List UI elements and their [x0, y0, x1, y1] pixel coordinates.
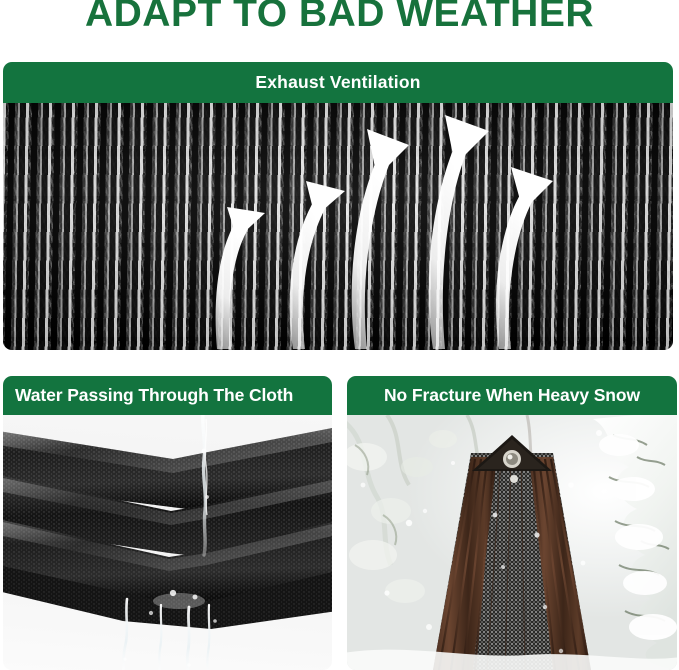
panel-header-water-passing: Water Passing Through The Cloth — [3, 376, 332, 415]
snow-scene-graphics — [347, 415, 677, 670]
panel-water-passing: Water Passing Through The Cloth — [3, 376, 332, 670]
panel-header-label: Exhaust Ventilation — [255, 72, 420, 93]
snow-cover-image — [347, 415, 677, 670]
snow-covered-evergreen — [593, 415, 677, 670]
airflow-arrow-icon — [290, 181, 345, 349]
airflow-arrow-icon — [352, 129, 409, 349]
water-scene-graphics — [3, 415, 332, 670]
panel-exhaust-ventilation: Exhaust Ventilation — [3, 62, 673, 350]
airflow-arrow-icon — [216, 207, 265, 349]
airflow-arrows-group — [3, 103, 673, 350]
panel-header-label: No Fracture When Heavy Snow — [384, 385, 640, 406]
airflow-arrow-icon — [429, 115, 489, 349]
page-title: ADAPT TO BAD WEATHER — [0, 0, 679, 37]
airflow-arrow-icon — [496, 167, 553, 349]
product-feature-infographic: ADAPT TO BAD WEATHER Exhaust Ventilation — [0, 0, 679, 670]
panel-header-label: Water Passing Through The Cloth — [15, 385, 293, 406]
panel-header-exhaust-ventilation: Exhaust Ventilation — [3, 62, 673, 103]
water-through-cloth-image — [3, 415, 332, 670]
panel-header-heavy-snow: No Fracture When Heavy Snow — [347, 376, 677, 415]
shade-cloth-mesh-image — [3, 103, 673, 350]
conical-plant-cover — [433, 435, 591, 670]
panel-heavy-snow: No Fracture When Heavy Snow — [347, 376, 677, 670]
